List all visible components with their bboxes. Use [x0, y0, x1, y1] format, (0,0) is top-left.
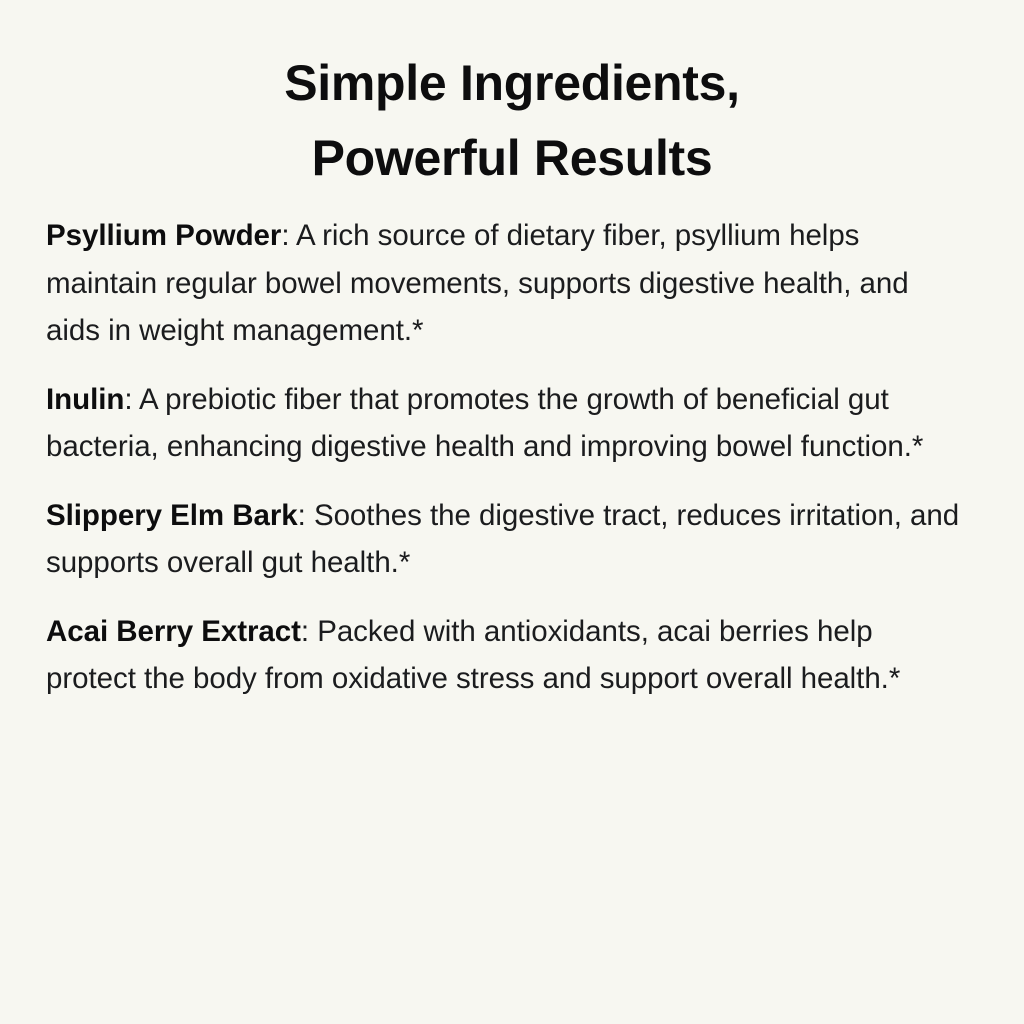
ingredient-separator: : [301, 615, 317, 648]
ingredient-item-psyllium-powder: Psyllium Powder: A rich source of dietar… [46, 212, 970, 355]
ingredient-name: Psyllium Powder [46, 219, 281, 252]
ingredient-separator: : [281, 219, 296, 252]
ingredient-name: Acai Berry Extract [46, 615, 301, 648]
ingredient-item-acai-berry-extract: Acai Berry Extract: Packed with antioxid… [46, 608, 970, 703]
page-title: Simple Ingredients, Powerful Results [0, 0, 1024, 196]
ingredient-name: Inulin [46, 383, 124, 416]
ingredients-card: Simple Ingredients, Powerful Results Psy… [0, 0, 1024, 1024]
ingredient-separator: : [298, 499, 314, 532]
ingredient-item-inulin: Inulin: A prebiotic fiber that promotes … [46, 376, 970, 471]
ingredients-list: Psyllium Powder: A rich source of dietar… [0, 196, 1024, 703]
ingredient-description: A prebiotic fiber that promotes the grow… [46, 383, 923, 464]
page-title-line-2: Powerful Results [0, 121, 1024, 196]
ingredient-separator: : [124, 383, 139, 416]
page-title-line-1: Simple Ingredients, [0, 46, 1024, 121]
ingredient-item-slippery-elm-bark: Slippery Elm Bark: Soothes the digestive… [46, 492, 970, 587]
ingredient-name: Slippery Elm Bark [46, 499, 298, 532]
